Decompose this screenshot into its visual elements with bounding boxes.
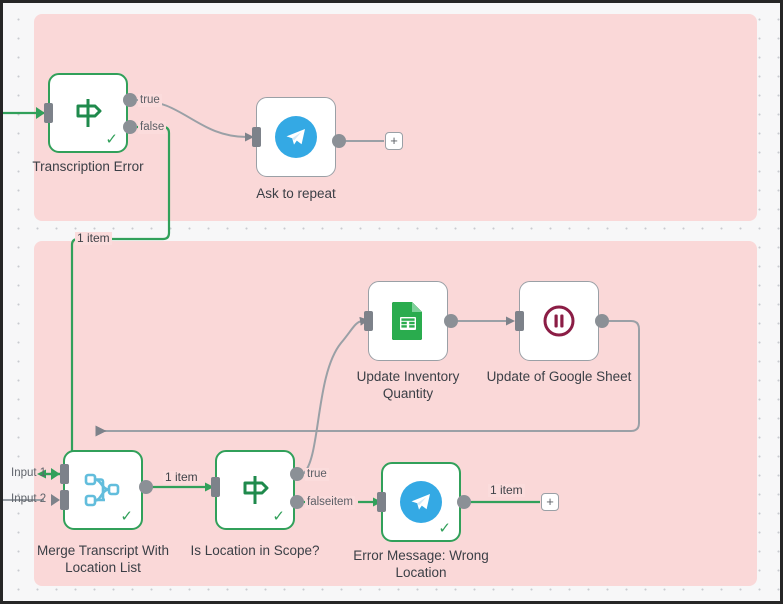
node-update-of-google-sheet-label: Update of Google Sheet [479, 368, 639, 385]
node-ask-to-repeat[interactable] [256, 97, 336, 177]
is-location-in-scope-output-true-dot[interactable] [290, 467, 304, 481]
is-location-in-scope-input-port[interactable] [211, 477, 220, 497]
node-status-check-icon: ✓ [272, 509, 285, 524]
node-error-message-wrong-location[interactable]: ✓ [381, 462, 461, 542]
signpost-if-icon [232, 467, 278, 513]
add-node-button-top[interactable]: + [385, 132, 403, 150]
node-status-check-icon: ✓ [120, 509, 133, 524]
edge-label-true-top: true [138, 94, 162, 107]
signpost-if-icon [65, 90, 111, 136]
edge-label-telegram-out: 1 item [488, 484, 525, 497]
node-merge-transcript-with-location-list[interactable]: ✓ [63, 450, 143, 530]
edge-label-if-true: true [305, 468, 329, 481]
merge-input-2-port[interactable] [60, 490, 69, 510]
node-transcription-error-label: Transcription Error [8, 158, 168, 175]
error-message-output-dot[interactable] [457, 495, 471, 509]
node-ask-to-repeat-label: Ask to repeat [216, 185, 376, 202]
update-inventory-quantity-input-port[interactable] [364, 311, 373, 331]
transcription-error-output-false-dot[interactable] [123, 120, 137, 134]
n8n-workflow-canvas[interactable]: 4. If the location or the quantity is mi… [0, 0, 783, 604]
transcription-error-input-port[interactable] [44, 103, 53, 123]
edge-label-if-false: falseitem [305, 496, 355, 509]
merge-input-1-port[interactable] [60, 464, 69, 484]
node-merge-transcript-with-location-list-label: Merge Transcript With Location List [23, 542, 183, 576]
update-of-google-sheet-input-port[interactable] [515, 311, 524, 331]
edge-label-false-top: false [138, 121, 166, 134]
node-is-location-in-scope[interactable]: ✓ [215, 450, 295, 530]
merge-input-2-arrow [51, 494, 60, 506]
is-location-in-scope-output-false-dot[interactable] [290, 495, 304, 509]
node-transcription-error[interactable]: ✓ [48, 73, 128, 153]
node-status-check-icon: ✓ [105, 132, 118, 147]
edge-label-merge-to-if: 1 item [163, 471, 200, 484]
update-inventory-quantity-output-dot[interactable] [444, 314, 458, 328]
google-sheets-icon [385, 298, 431, 344]
update-of-google-sheet-output-dot[interactable] [595, 314, 609, 328]
merge-icon [80, 467, 126, 513]
ask-to-repeat-input-port[interactable] [252, 127, 261, 147]
node-status-check-icon: ✓ [438, 521, 451, 536]
add-node-button-bottom[interactable]: + [541, 493, 559, 511]
telegram-icon [273, 114, 319, 160]
node-error-message-wrong-location-label: Error Message: Wrong Location [341, 547, 501, 581]
node-update-of-google-sheet[interactable] [519, 281, 599, 361]
merge-input-1-label: Input 1 [11, 467, 46, 480]
merge-input-1-arrow [51, 468, 60, 480]
node-is-location-in-scope-label: Is Location in Scope? [180, 542, 330, 559]
node-update-inventory-quantity[interactable] [368, 281, 448, 361]
transcription-error-output-true-dot[interactable] [123, 93, 137, 107]
telegram-icon [398, 479, 444, 525]
edge-label-loopback-one-item: 1 item [75, 232, 112, 245]
edge-transcription-false-to-merge-input1 [44, 127, 169, 474]
error-message-input-port[interactable] [377, 492, 386, 512]
node-update-inventory-quantity-label: Update Inventory Quantity [328, 368, 488, 402]
merge-input-2-label: Input 2 [11, 493, 46, 506]
merge-output-dot[interactable] [139, 480, 153, 494]
wait-pause-icon [536, 298, 582, 344]
ask-to-repeat-output-dot[interactable] [332, 134, 346, 148]
